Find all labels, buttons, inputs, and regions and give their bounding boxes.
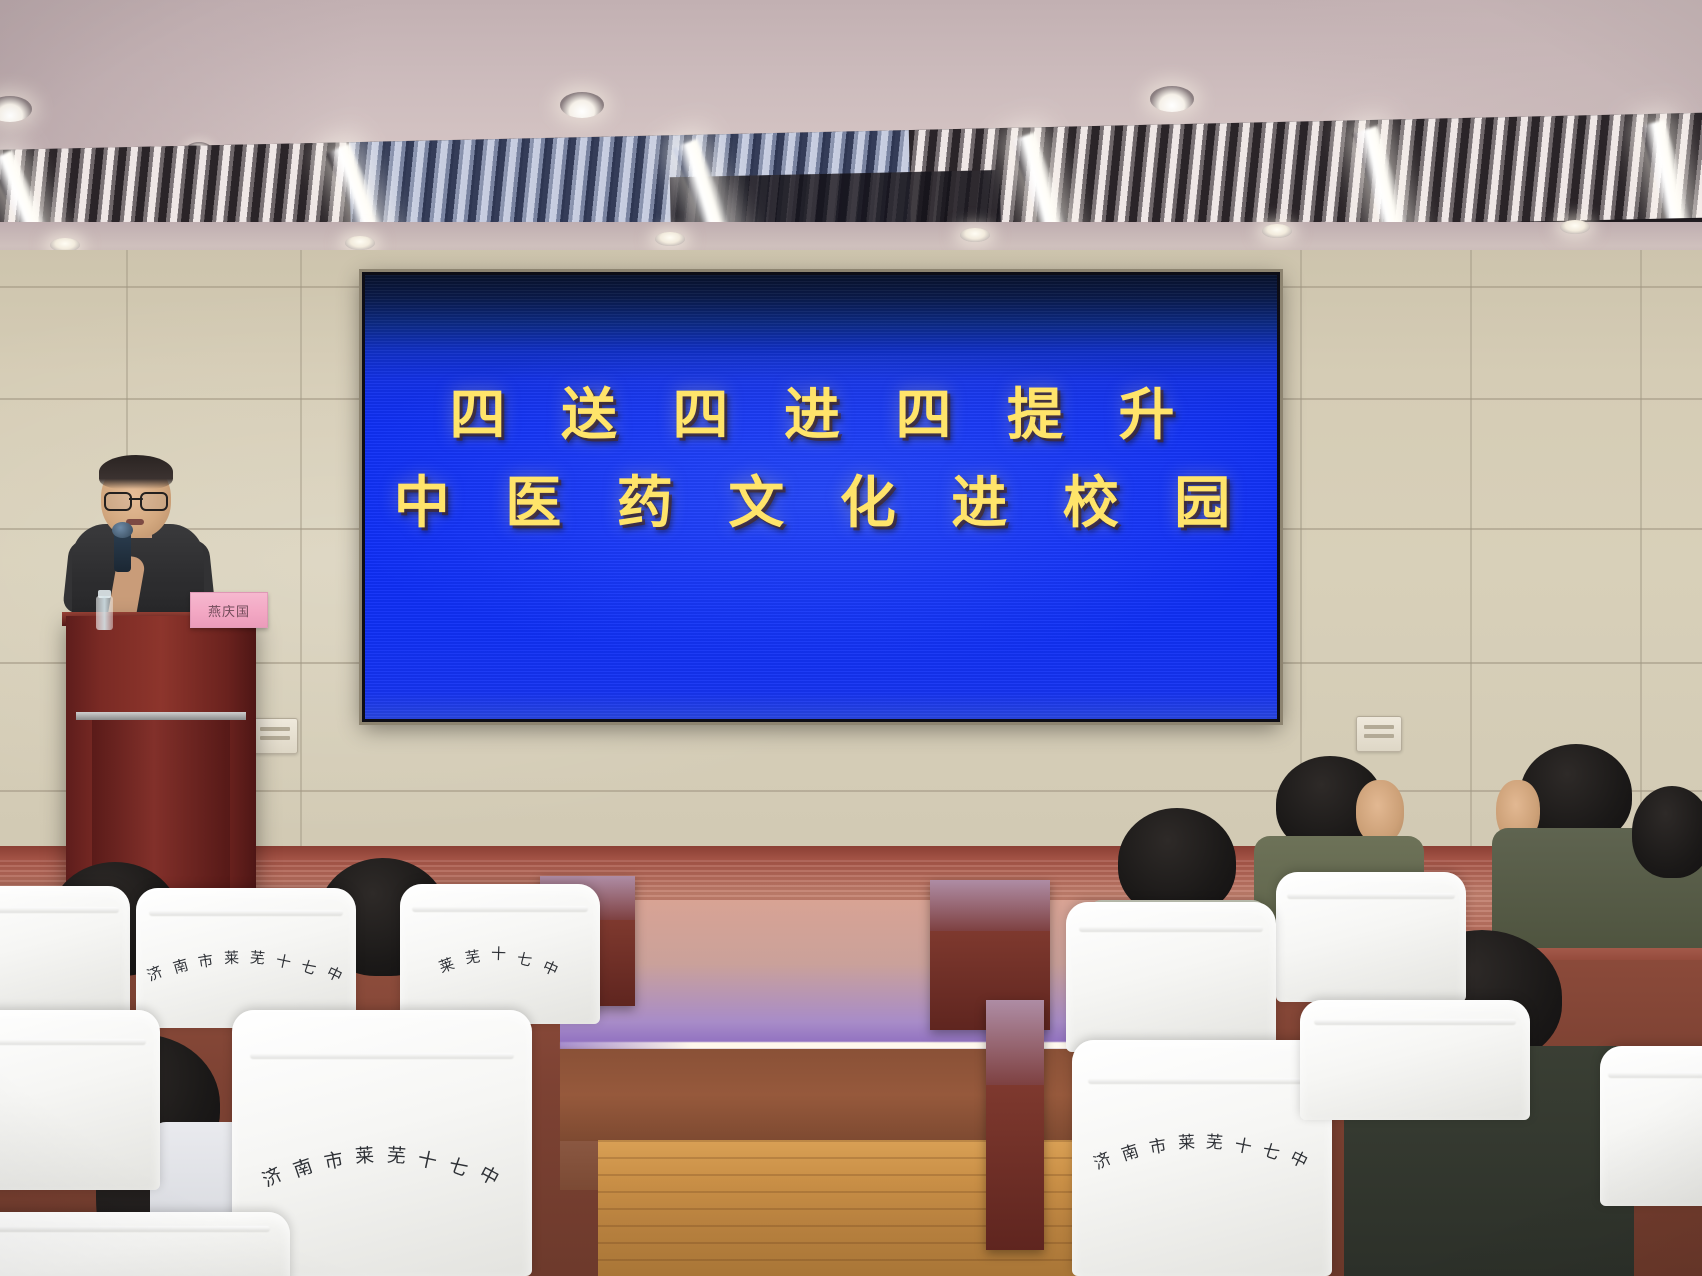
downlight-icon — [1560, 220, 1590, 234]
wall-power-outlet[interactable] — [252, 718, 298, 754]
chair-cover-fold — [250, 1053, 514, 1059]
chair[interactable] — [1276, 872, 1466, 1002]
chair-cover-text: 济 南 市 莱 芜 十 七 中 — [232, 1148, 532, 1175]
downlight-icon — [1262, 224, 1292, 238]
chair[interactable]: 济 南 市 莱 芜 十 七 中 — [136, 888, 356, 1028]
downlight-icon — [560, 92, 604, 118]
led-display-surface: 四 送 四 进 四 提 升 中 医 药 文 化 进 校 园 — [365, 275, 1277, 719]
wall-power-outlet[interactable] — [1356, 716, 1402, 752]
chair-cover-text: 济 南 市 莱 芜 十 七 中 — [136, 952, 356, 973]
downlight-icon — [960, 228, 990, 242]
downlight-icon — [1150, 86, 1194, 112]
speaker-hair — [99, 455, 173, 489]
chair[interactable] — [1600, 1046, 1702, 1206]
led-display-screen[interactable]: 四 送 四 进 四 提 升 中 医 药 文 化 进 校 园 — [362, 272, 1280, 722]
chair-cover-text: 济 南 市 莱 芜 十 七 中 — [1072, 1134, 1332, 1159]
chair-cover-fold — [1287, 893, 1454, 899]
audience-head — [1632, 786, 1702, 878]
chair[interactable] — [1300, 1000, 1530, 1120]
desk-gloss — [986, 1000, 1044, 1085]
name-card-text: 燕庆国 — [208, 601, 250, 620]
chair[interactable] — [0, 886, 130, 1016]
audience-face — [1356, 780, 1404, 844]
chair[interactable]: 济 南 市 莱 芜 十 七 中 — [1072, 1040, 1332, 1276]
slide-title-line-2: 中 医 药 文 化 进 校 园 — [365, 459, 1277, 547]
chair-cover-fold — [0, 1039, 146, 1045]
chair[interactable]: 莱 芜 十 七 中 — [400, 884, 600, 1024]
chair[interactable] — [0, 1010, 160, 1190]
chair-cover-fold — [149, 910, 343, 916]
slide-title-line-1: 四 送 四 进 四 提 升 — [365, 371, 1277, 459]
wall-panel-seam — [1470, 250, 1472, 940]
name-card: 燕庆国 — [190, 592, 268, 628]
chair-cover-fold — [0, 1226, 270, 1232]
microphone-head-icon[interactable] — [112, 522, 133, 538]
chair-cover-fold — [1079, 926, 1264, 932]
chair-cover-fold — [1314, 1019, 1516, 1025]
chair-cover-fold — [412, 906, 588, 912]
chair-cover-fold — [0, 907, 119, 913]
podium-trim — [76, 712, 246, 720]
chair[interactable] — [0, 1212, 290, 1276]
chair-cover-text: 莱 芜 十 七 中 — [400, 946, 600, 967]
chair-cover-fold — [1088, 1078, 1317, 1084]
water-bottle[interactable] — [96, 596, 113, 630]
photo-canvas: 四 送 四 进 四 提 升 中 医 药 文 化 进 校 园 燕庆国 — [0, 0, 1702, 1276]
eyeglasses-icon — [104, 492, 168, 507]
chair-cover-fold — [1608, 1072, 1702, 1078]
downlight-icon — [655, 232, 685, 246]
dais-desk-side — [986, 1000, 1044, 1250]
downlight-icon — [345, 236, 375, 250]
chair[interactable] — [1066, 902, 1276, 1052]
wall-panel-seam — [300, 250, 302, 940]
